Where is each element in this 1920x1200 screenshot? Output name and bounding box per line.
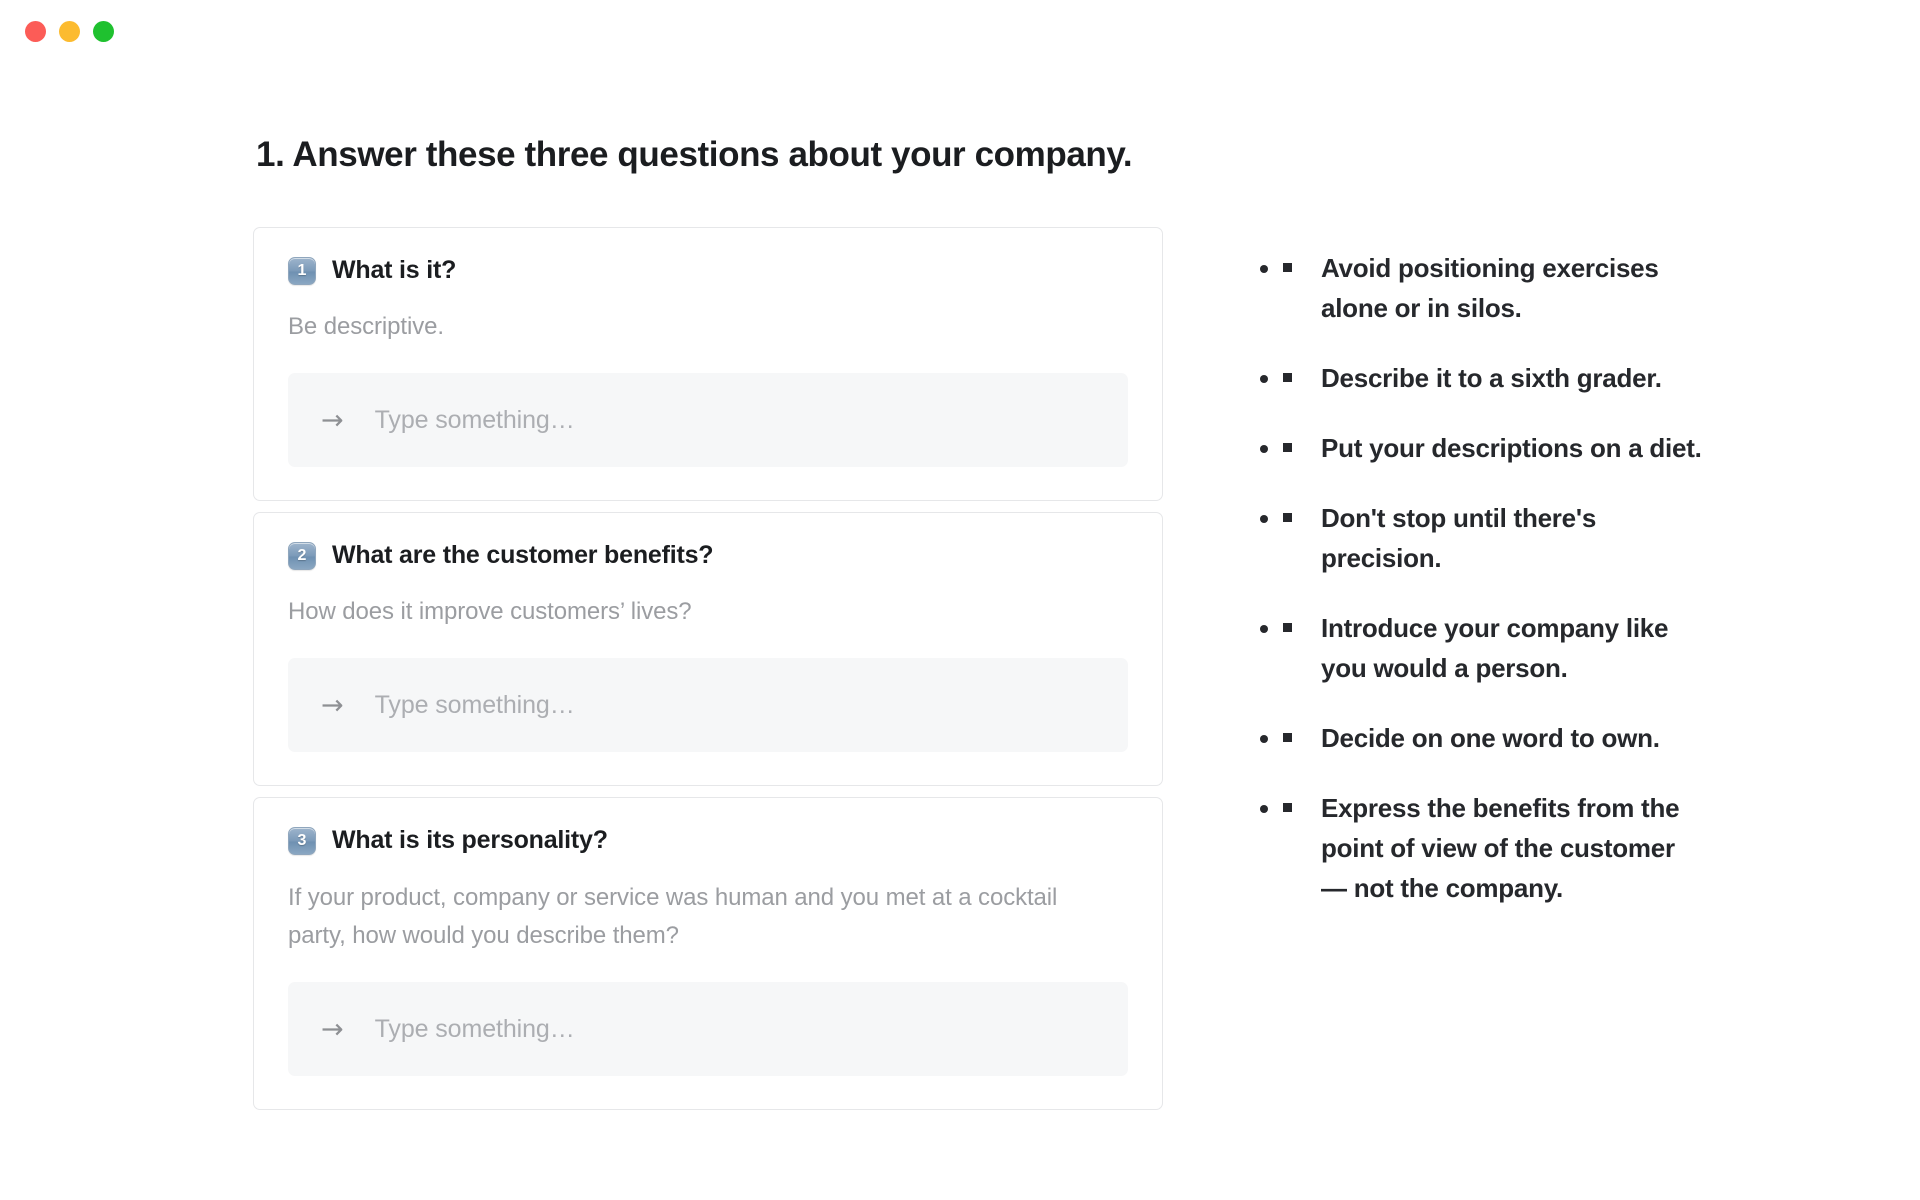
answer-input-placeholder: Type something…	[375, 691, 575, 720]
answer-input[interactable]: → Type something…	[288, 982, 1128, 1076]
question-title: What are the customer benefits?	[332, 540, 713, 571]
tip-list-item: Express the benefits from the point of v…	[1283, 788, 1703, 908]
answer-input[interactable]: → Type something…	[288, 373, 1128, 467]
tips-list: Avoid positioning exercises alone or in …	[1283, 248, 1703, 908]
square-bullet-icon	[1283, 263, 1292, 272]
question-description: Be descriptive.	[288, 308, 1078, 347]
tip-list-item: Put your descriptions on a diet.	[1283, 428, 1703, 468]
tip-text: Introduce your company like you would a …	[1321, 613, 1668, 683]
question-number-badge: 2	[288, 542, 316, 570]
square-bullet-icon	[1283, 513, 1292, 522]
answer-input[interactable]: → Type something…	[288, 658, 1128, 752]
tip-list-item: Don't stop until there's precision.	[1283, 498, 1703, 578]
arrow-right-icon: →	[321, 407, 344, 434]
tip-list-item: Decide on one word to own.	[1283, 718, 1703, 758]
zoom-window-button[interactable]	[93, 21, 114, 42]
question-title: What is it?	[332, 255, 456, 286]
question-title: What is its personality?	[332, 825, 608, 856]
tip-list-item: Avoid positioning exercises alone or in …	[1283, 248, 1703, 328]
question-number-badge: 1	[288, 257, 316, 285]
tip-text: Describe it to a sixth grader.	[1321, 363, 1662, 393]
tip-text: Express the benefits from the point of v…	[1321, 793, 1679, 903]
minimize-window-button[interactable]	[59, 21, 80, 42]
question-description: If your product, company or service was …	[288, 879, 1078, 957]
tip-list-item: Describe it to a sixth grader.	[1283, 358, 1703, 398]
question-header: 2 What are the customer benefits?	[288, 540, 1128, 571]
question-header: 1 What is it?	[288, 255, 1128, 286]
page-title: 1. Answer these three questions about yo…	[256, 134, 1132, 176]
questions-column: 1 What is it? Be descriptive. → Type som…	[253, 227, 1163, 1121]
tip-list-item: Introduce your company like you would a …	[1283, 608, 1703, 688]
question-card: 3 What is its personality? If your produ…	[253, 797, 1163, 1110]
square-bullet-icon	[1283, 443, 1292, 452]
page-canvas: 1. Answer these three questions about yo…	[0, 62, 1920, 1200]
square-bullet-icon	[1283, 733, 1292, 742]
traffic-light-controls	[25, 21, 114, 42]
square-bullet-icon	[1283, 803, 1292, 812]
tip-text: Don't stop until there's precision.	[1321, 503, 1596, 573]
question-header: 3 What is its personality?	[288, 825, 1128, 856]
square-bullet-icon	[1283, 623, 1292, 632]
close-window-button[interactable]	[25, 21, 46, 42]
arrow-right-icon: →	[321, 692, 344, 719]
question-card: 1 What is it? Be descriptive. → Type som…	[253, 227, 1163, 501]
question-description: How does it improve customers’ lives?	[288, 593, 1078, 632]
question-card: 2 What are the customer benefits? How do…	[253, 512, 1163, 786]
tip-text: Avoid positioning exercises alone or in …	[1321, 253, 1659, 323]
window-title-bar	[0, 0, 1920, 62]
answer-input-placeholder: Type something…	[375, 406, 575, 435]
square-bullet-icon	[1283, 373, 1292, 382]
tip-text: Decide on one word to own.	[1321, 723, 1660, 753]
question-number-badge: 3	[288, 827, 316, 855]
answer-input-placeholder: Type something…	[375, 1015, 575, 1044]
arrow-right-icon: →	[321, 1016, 344, 1043]
tip-text: Put your descriptions on a diet.	[1321, 433, 1702, 463]
